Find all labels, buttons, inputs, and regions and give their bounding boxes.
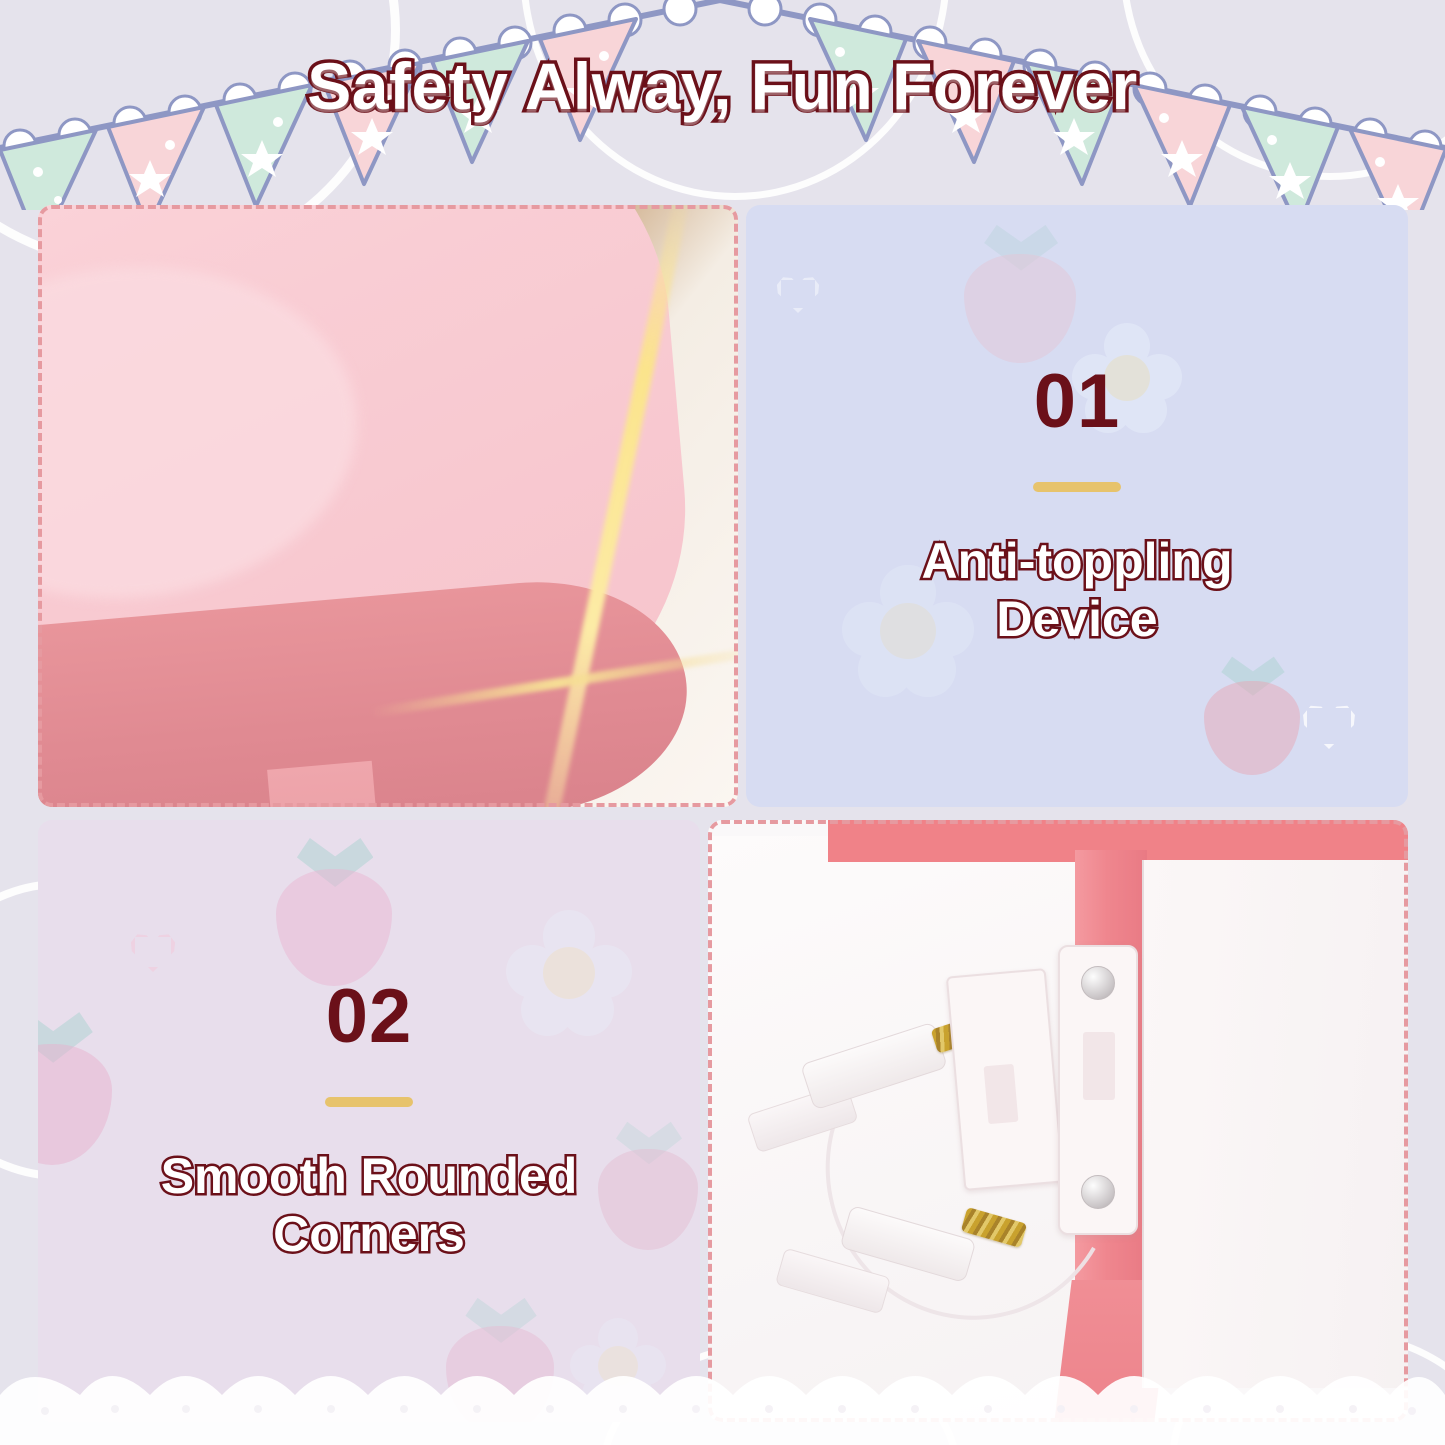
feature-number: 02: [326, 979, 413, 1055]
screw-head: [1081, 966, 1115, 1000]
feature-label-line1: Anti-toppling: [922, 533, 1233, 589]
screw-head: [1081, 1175, 1115, 1209]
scalloped-lace-border: [0, 1349, 1445, 1445]
divider: [1033, 482, 1121, 492]
table-leg: [267, 761, 384, 807]
feature-panel-01: 01 Anti-toppling Device: [746, 205, 1408, 807]
page-title: Safety Alway, Fun Forever: [0, 48, 1445, 124]
feature-label-line2: Corners: [273, 1206, 465, 1262]
feature-label-line1: Smooth Rounded: [161, 1148, 578, 1204]
white-side-panel: [1142, 860, 1408, 1388]
feature-label-line2: Device: [996, 591, 1157, 647]
rounded-corner-photo: [38, 205, 738, 807]
feature-number: 01: [1034, 364, 1121, 440]
divider: [325, 1097, 413, 1107]
feature-label: Anti-toppling Device: [922, 532, 1233, 649]
bracket-slot: [984, 1064, 1019, 1124]
feature-label: Smooth Rounded Corners: [161, 1147, 578, 1264]
anti-toppling-hardware-photo: [708, 820, 1408, 1422]
infographic-page: Safety Alway, Fun Forever 01 Anti-to: [0, 0, 1445, 1445]
bracket-slot: [1083, 1032, 1115, 1100]
feature-panel-02: 02 Smooth Rounded Corners: [38, 820, 700, 1422]
